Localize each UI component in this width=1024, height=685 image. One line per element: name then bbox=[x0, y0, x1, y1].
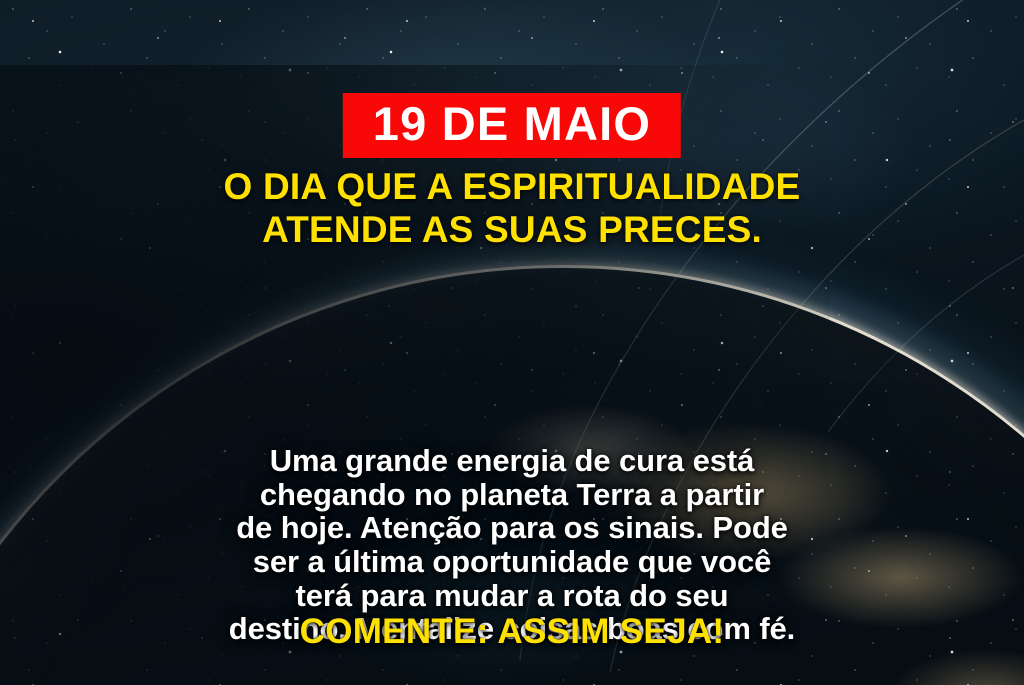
date-banner: 19 DE MAIO bbox=[343, 93, 681, 158]
date-banner-text: 19 DE MAIO bbox=[373, 100, 651, 147]
body-line-3: de hoje. Atenção para os sinais. Pode bbox=[36, 511, 988, 545]
poster-content: 19 DE MAIO O DIA QUE A ESPIRITUALIDADE A… bbox=[0, 0, 1024, 685]
body-line-4: ser a última oportunidade que você bbox=[36, 545, 988, 579]
headline: O DIA QUE A ESPIRITUALIDADE ATENDE AS SU… bbox=[0, 166, 1024, 252]
body-line-5: terá para mudar a rota do seu bbox=[36, 579, 988, 613]
headline-line-2: ATENDE AS SUAS PRECES. bbox=[40, 209, 984, 252]
body-line-1: Uma grande energia de cura está bbox=[36, 444, 988, 478]
call-to-action-text: COMENTE: ASSIM SEJA! bbox=[0, 612, 1024, 652]
headline-line-1: O DIA QUE A ESPIRITUALIDADE bbox=[40, 166, 984, 209]
body-line-2: chegando no planeta Terra a partir bbox=[36, 478, 988, 512]
poster-canvas: 19 DE MAIO O DIA QUE A ESPIRITUALIDADE A… bbox=[0, 0, 1024, 685]
